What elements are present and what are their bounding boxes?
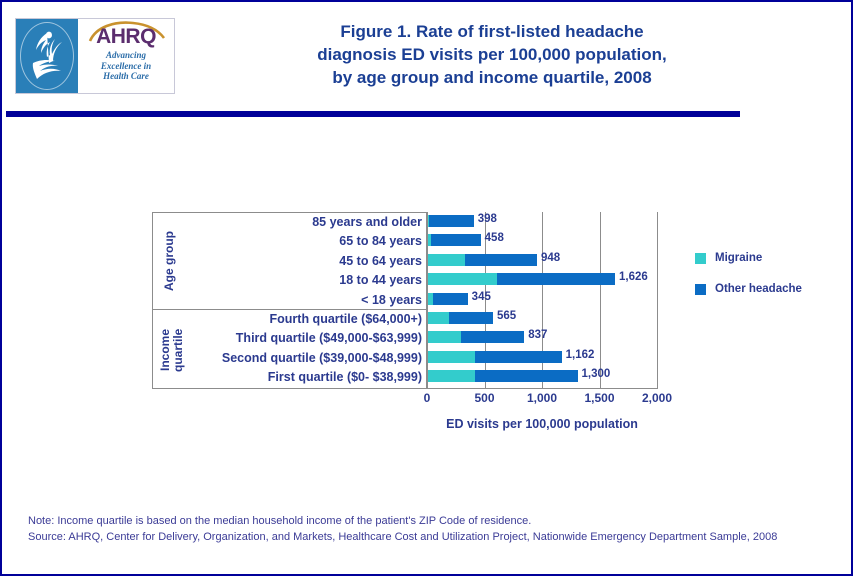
bar-segment-migraine[interactable] <box>428 254 465 266</box>
stacked-bar[interactable] <box>428 273 615 285</box>
ahrq-wordmark: AHRQ Advancing Excellence in Health Care <box>78 19 174 93</box>
figure-title-line1: Figure 1. Rate of first-listed headache <box>187 20 797 43</box>
hhs-seal-icon <box>16 19 78 93</box>
bar-value-label: 948 <box>537 252 560 264</box>
stacked-bar[interactable] <box>428 312 493 324</box>
category-label: 45 to 64 years <box>191 252 422 271</box>
category-label: < 18 years <box>191 291 422 310</box>
bar-segment-other-headache[interactable] <box>449 312 493 324</box>
figure-title: Figure 1. Rate of first-listed headache … <box>187 20 797 89</box>
bar-segment-other-headache[interactable] <box>475 351 561 363</box>
category-label: 65 to 84 years <box>191 232 422 251</box>
bar-value-label: 565 <box>493 310 516 322</box>
bar-value-label: 1,162 <box>562 349 595 361</box>
bar-segment-other-headache[interactable] <box>465 254 537 266</box>
ahrq-tagline-line2: Excellence in <box>78 61 174 72</box>
footnote-source: Source: AHRQ, Center for Delivery, Organ… <box>28 530 828 546</box>
bar-row: 1,626 <box>428 270 658 289</box>
stacked-bar[interactable] <box>428 351 562 363</box>
category-label: Third quartile ($49,000-$63,999) <box>191 329 422 348</box>
category-label: 85 years and older <box>191 213 422 232</box>
bar-segment-other-headache[interactable] <box>429 215 474 227</box>
x-tick-label: 1,000 <box>527 391 557 405</box>
ahrq-tagline: Advancing Excellence in Health Care <box>78 50 174 82</box>
bar-value-label: 837 <box>524 329 547 341</box>
category-label: Second quartile ($39,000-$48,999) <box>191 349 422 368</box>
stacked-bar[interactable] <box>428 331 524 343</box>
x-tick-label: 1,500 <box>584 391 614 405</box>
bar-row: 1,162 <box>428 348 658 367</box>
category-label-box: Age group Income quartile 85 years and o… <box>152 212 427 389</box>
category-label: Fourth quartile ($64,000+) <box>191 310 422 329</box>
x-tick-label: 0 <box>424 391 431 405</box>
footnote-note: Note: Income quartile is based on the me… <box>28 514 828 530</box>
figure-title-line2: diagnosis ED visits per 100,000 populati… <box>187 43 797 66</box>
ahrq-tagline-line1: Advancing <box>78 50 174 61</box>
legend-item[interactable]: Migraine <box>695 252 802 264</box>
bar-segment-migraine[interactable] <box>428 331 461 343</box>
bar-segment-other-headache[interactable] <box>497 273 615 285</box>
bar-value-label: 1,626 <box>615 271 648 283</box>
bar-value-label: 398 <box>474 213 497 225</box>
x-tick-label: 500 <box>474 391 494 405</box>
ahrq-tagline-line3: Health Care <box>78 71 174 82</box>
group-label-age-group: Age group <box>163 215 176 307</box>
bar-row: 565 <box>428 309 658 328</box>
category-labels: 85 years and older65 to 84 years45 to 64… <box>191 213 422 388</box>
chart: Age group Income quartile 85 years and o… <box>2 127 851 457</box>
figure-page: AHRQ Advancing Excellence in Health Care… <box>0 0 853 576</box>
bar-row: 345 <box>428 290 658 309</box>
legend-swatch-icon <box>695 284 706 295</box>
bar-segment-migraine[interactable] <box>428 273 497 285</box>
bar-segment-migraine[interactable] <box>428 351 475 363</box>
header-divider-rule <box>6 111 740 117</box>
category-label: First quartile ($0- $38,999) <box>191 368 422 387</box>
figure-footnotes: Note: Income quartile is based on the me… <box>28 514 828 545</box>
chart-legend: MigraineOther headache <box>695 252 802 314</box>
bar-row: 948 <box>428 251 658 270</box>
x-axis-title: ED visits per 100,000 population <box>312 417 772 431</box>
x-tick-label: 2,000 <box>642 391 672 405</box>
legend-swatch-icon <box>695 253 706 264</box>
stacked-bar[interactable] <box>428 370 578 382</box>
bar-value-label: 345 <box>468 291 491 303</box>
x-axis-ticks: 05001,0001,5002,000 <box>427 391 657 409</box>
ahrq-acronym: AHRQ <box>78 26 174 47</box>
stacked-bar[interactable] <box>428 254 537 266</box>
bar-row: 398 <box>428 212 658 231</box>
group-label-income-quartile: Income quartile <box>159 312 185 388</box>
bar-row: 458 <box>428 231 658 250</box>
bar-segment-other-headache[interactable] <box>461 331 524 343</box>
bar-row: 1,300 <box>428 367 658 386</box>
bar-value-label: 1,300 <box>578 368 611 380</box>
legend-label: Migraine <box>715 252 762 264</box>
hhs-eagle-icon <box>25 29 70 85</box>
stacked-bar[interactable] <box>428 234 481 246</box>
plot-area: 3984589481,6263455658371,1621,300 <box>427 212 657 389</box>
figure-header: AHRQ Advancing Excellence in Health Care… <box>2 2 851 107</box>
legend-item[interactable]: Other headache <box>695 283 802 295</box>
bar-value-label: 458 <box>481 232 504 244</box>
figure-title-line3: by age group and income quartile, 2008 <box>187 66 797 89</box>
legend-label: Other headache <box>715 283 802 295</box>
bar-segment-other-headache[interactable] <box>431 234 480 246</box>
stacked-bar[interactable] <box>428 215 474 227</box>
ahrq-logo: AHRQ Advancing Excellence in Health Care <box>15 18 175 94</box>
bar-segment-migraine[interactable] <box>428 370 475 382</box>
stacked-bar[interactable] <box>428 293 468 305</box>
bar-row: 837 <box>428 328 658 347</box>
bar-segment-migraine[interactable] <box>428 312 449 324</box>
bar-segment-other-headache[interactable] <box>475 370 577 382</box>
bar-segment-other-headache[interactable] <box>433 293 468 305</box>
category-label: 18 to 44 years <box>191 271 422 290</box>
